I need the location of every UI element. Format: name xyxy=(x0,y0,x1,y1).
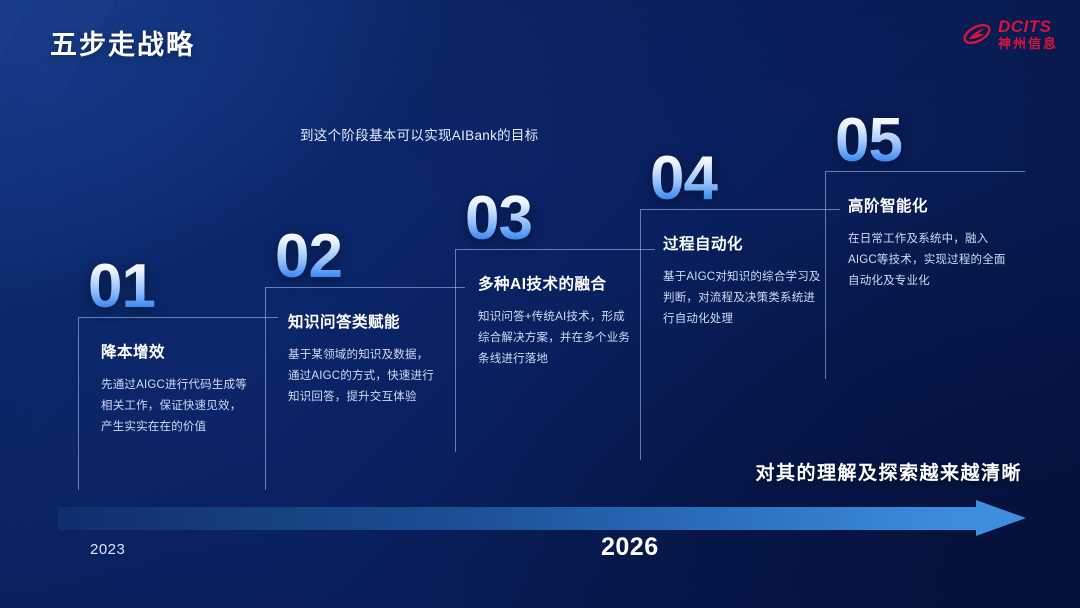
step-body: 基于某领域的知识及数据，通过AIGC的方式，快速进行知识回答，提升交互体验 xyxy=(288,345,440,409)
step-body: 知识问答+传统AI技术，形成综合解决方案，并在多个业务条线进行落地 xyxy=(478,307,636,371)
step-body: 基于AIGC对知识的综合学习及判断，对流程及决策类系统进行自动化处理 xyxy=(663,267,821,331)
tagline: 对其的理解及探索越来越清晰 xyxy=(755,458,1022,485)
step-card: 过程自动化 基于AIGC对知识的综合学习及判断，对流程及决策类系统进行自动化处理 xyxy=(640,209,840,460)
step-card: 多种AI技术的融合 知识问答+传统AI技术，形成综合解决方案，并在多个业务条线进… xyxy=(455,249,655,452)
step-04[interactable]: 04 过程自动化 基于AIGC对知识的综合学习及判断，对流程及决策类系统进行自动… xyxy=(640,150,840,460)
timeline-arrow xyxy=(58,500,1026,536)
step-number: 03 xyxy=(465,190,655,249)
dcits-swirl-icon xyxy=(962,19,992,49)
step-02[interactable]: 02 知识问答类赋能 基于某领域的知识及数据，通过AIGC的方式，快速进行知识回… xyxy=(265,228,465,490)
step-title: 多种AI技术的融合 xyxy=(478,272,655,294)
step-body: 在日常工作及系统中，融入AIGC等技术，实现过程的全面自动化及专业化 xyxy=(848,229,1006,293)
step-number: 04 xyxy=(650,150,840,209)
step-body: 先通过AIGC进行代码生成等相关工作，保证快速见效，产生实实在在的价值 xyxy=(101,375,253,439)
timeline-end-year: 2026 xyxy=(601,533,659,562)
timeline-start-year: 2023 xyxy=(90,541,125,558)
arrow-bar xyxy=(58,507,976,530)
step-title: 高阶智能化 xyxy=(848,194,1025,216)
page-title: 五步走战略 xyxy=(50,23,195,62)
logo-en-label: DCITS xyxy=(998,18,1058,35)
step-01[interactable]: 01 降本增效 先通过AIGC进行代码生成等相关工作，保证快速见效，产生实实在在… xyxy=(78,258,278,490)
step-card: 降本增效 先通过AIGC进行代码生成等相关工作，保证快速见效，产生实实在在的价值 xyxy=(78,317,278,490)
annotation-note: 到这个阶段基本可以实现AIBank的目标 xyxy=(300,124,539,144)
slide-canvas: 五步走战略 DCITS 神州信息 到这个阶段基本可以实现AIBank的目标 01… xyxy=(0,0,1080,608)
step-title: 过程自动化 xyxy=(663,232,840,254)
step-number: 02 xyxy=(275,228,465,287)
step-card: 高阶智能化 在日常工作及系统中，融入AIGC等技术，实现过程的全面自动化及专业化 xyxy=(825,171,1025,379)
step-card: 知识问答类赋能 基于某领域的知识及数据，通过AIGC的方式，快速进行知识回答，提… xyxy=(265,287,465,490)
step-title: 知识问答类赋能 xyxy=(288,310,465,332)
step-05[interactable]: 05 高阶智能化 在日常工作及系统中，融入AIGC等技术，实现过程的全面自动化及… xyxy=(825,112,1025,379)
step-03[interactable]: 03 多种AI技术的融合 知识问答+传统AI技术，形成综合解决方案，并在多个业务… xyxy=(455,190,655,452)
arrow-head-icon xyxy=(976,500,1026,536)
step-title: 降本增效 xyxy=(101,340,278,362)
step-number: 01 xyxy=(88,258,278,317)
logo-cn-label: 神州信息 xyxy=(998,37,1058,50)
company-logo: DCITS 神州信息 xyxy=(962,18,1058,50)
stripe-2 xyxy=(0,0,61,608)
logo-text: DCITS 神州信息 xyxy=(998,18,1058,50)
step-number: 05 xyxy=(835,112,1025,171)
